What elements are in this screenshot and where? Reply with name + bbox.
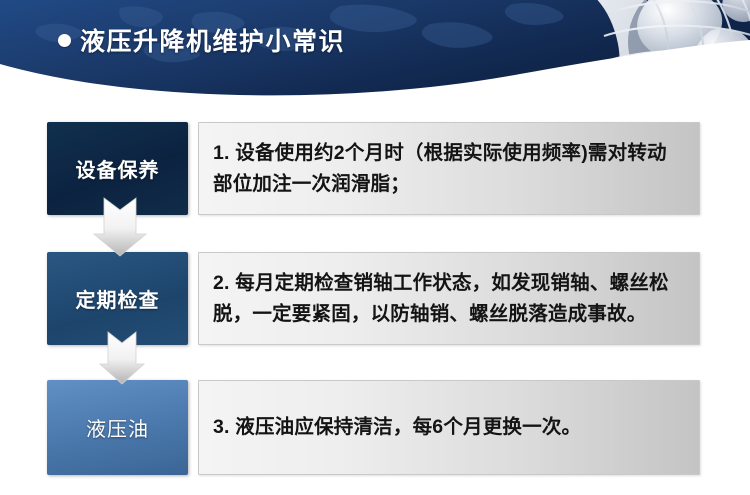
flow-step-text-0: 1. 设备使用约2个月时（根据实际使用频率)需对转动部位加注一次润滑脂； <box>213 138 685 200</box>
flow-step-label-0: 设备保养 <box>76 154 160 183</box>
flow-step-label-1: 定期检查 <box>76 284 160 313</box>
filled-circle-bullet-icon <box>58 34 71 47</box>
flow-step-label-2: 液压油 <box>86 413 149 442</box>
flow-step-content-box-2[interactable]: 3. 液压油应保持清洁，每6个月更换一次。 <box>198 380 700 475</box>
flow-step-row: 液压油 3. 液压油应保持清洁，每6个月更换一次。 <box>0 380 750 475</box>
chevron-down-arrow-icon <box>98 330 146 386</box>
chevron-down-arrow-icon <box>92 196 148 258</box>
page-title: 液压升降机维护小常识 <box>58 22 345 58</box>
flow-step-text-1: 2. 每月定期检查销轴工作状态，如发现销轴、螺丝松脱，一定要紧固，以防轴销、螺丝… <box>213 268 685 330</box>
flow-step-label-box-2[interactable]: 液压油 <box>47 380 188 475</box>
flow-step-text-2: 3. 液压油应保持清洁，每6个月更换一次。 <box>213 412 581 443</box>
flow-step-content-box-0[interactable]: 1. 设备使用约2个月时（根据实际使用频率)需对转动部位加注一次润滑脂； <box>198 122 700 215</box>
page-title-text: 液压升降机维护小常识 <box>80 22 345 58</box>
flow-step-content-box-1[interactable]: 2. 每月定期检查销轴工作状态，如发现销轴、螺丝松脱，一定要紧固，以防轴销、螺丝… <box>198 252 700 345</box>
page-header: 液压升降机维护小常识 <box>0 0 750 100</box>
